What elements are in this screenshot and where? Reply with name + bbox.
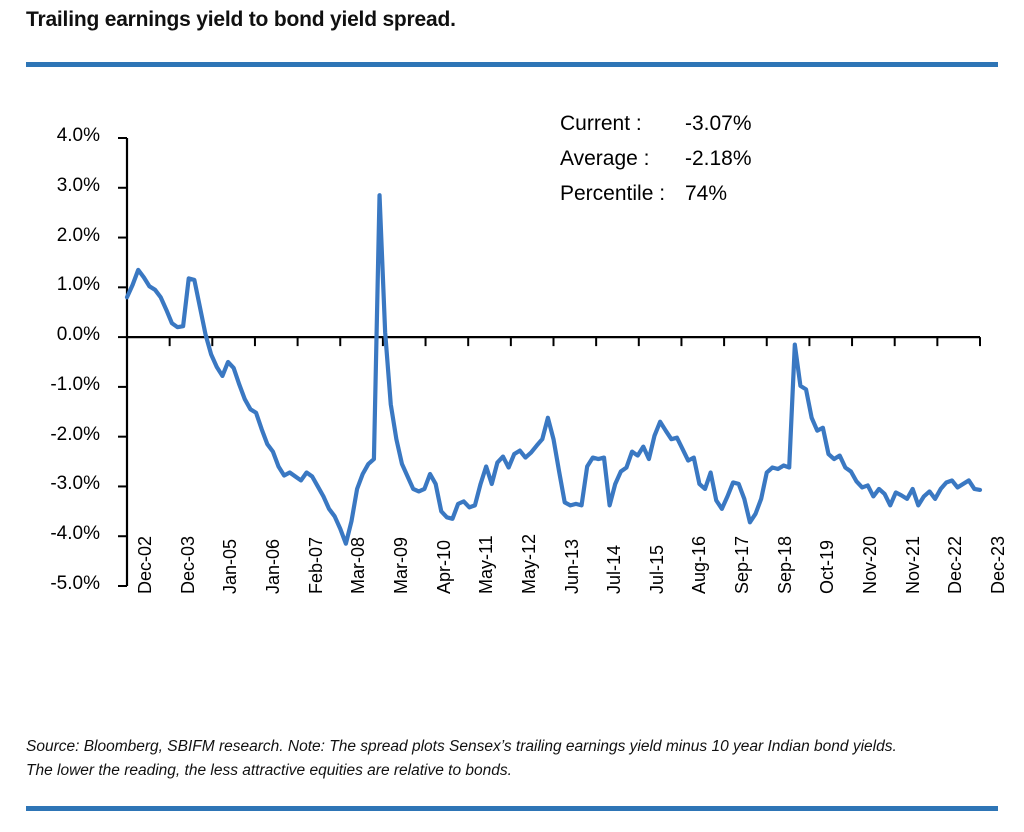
data-series-line — [127, 195, 980, 543]
page-title: Trailing earnings yield to bond yield sp… — [26, 8, 456, 32]
y-axis-tick-label: 2.0% — [14, 225, 100, 247]
x-axis-tick-label: Nov-21 — [903, 536, 924, 594]
y-axis-tick-label: -2.0% — [14, 424, 100, 446]
chart-plot-area: 4.0%3.0%2.0%1.0%0.0%-1.0%-2.0%-3.0%-4.0%… — [0, 100, 1024, 700]
y-axis-tick-label: -1.0% — [14, 374, 100, 396]
x-axis-tick-label: Jan-05 — [220, 539, 241, 594]
x-axis-tick-label: Dec-03 — [178, 536, 199, 594]
x-axis-tick-label: Dec-23 — [988, 536, 1009, 594]
x-axis-tick-label: Dec-02 — [135, 536, 156, 594]
y-axis-tick-label: 1.0% — [14, 274, 100, 296]
y-axis-tick-label: -5.0% — [14, 573, 100, 595]
source-note-line-2: The lower the reading, the less attracti… — [26, 759, 1001, 783]
y-axis-tick-label: -3.0% — [14, 473, 100, 495]
y-axis-tick-label: -4.0% — [14, 523, 100, 545]
x-axis-tick-label: Jul-14 — [604, 545, 625, 594]
x-axis-tick-label: Jun-13 — [562, 539, 583, 594]
x-axis-tick-label: Jul-15 — [647, 545, 668, 594]
x-axis-tick-label: Sep-17 — [732, 536, 753, 594]
x-axis-tick-label: May-11 — [476, 535, 497, 594]
y-axis-tick-label: 4.0% — [14, 125, 100, 147]
axes-group — [118, 138, 980, 586]
x-axis-tick-label: May-12 — [519, 534, 540, 594]
header-divider-rule — [26, 62, 998, 67]
x-axis-tick-label: Jan-06 — [263, 539, 284, 594]
x-axis-tick-label: Mar-08 — [348, 537, 369, 594]
x-axis-tick-label: Apr-10 — [434, 540, 455, 594]
x-axis-tick-label: Mar-09 — [391, 537, 412, 594]
x-axis-tick-label: Feb-07 — [306, 537, 327, 594]
source-note: Source: Bloomberg, SBIFM research. Note:… — [26, 735, 1001, 783]
chart-svg — [0, 100, 1024, 700]
y-axis-tick-label: 0.0% — [14, 324, 100, 346]
footer-divider-rule — [26, 806, 998, 811]
x-axis-tick-label: Aug-16 — [689, 536, 710, 594]
source-note-line-1: Source: Bloomberg, SBIFM research. Note:… — [26, 735, 1001, 759]
x-axis-tick-label: Dec-22 — [945, 536, 966, 594]
chart-page: Trailing earnings yield to bond yield sp… — [0, 0, 1024, 832]
x-axis-tick-label: Oct-19 — [817, 540, 838, 594]
x-axis-tick-label: Sep-18 — [775, 536, 796, 594]
y-axis-tick-label: 3.0% — [14, 175, 100, 197]
x-axis-tick-label: Nov-20 — [860, 536, 881, 594]
